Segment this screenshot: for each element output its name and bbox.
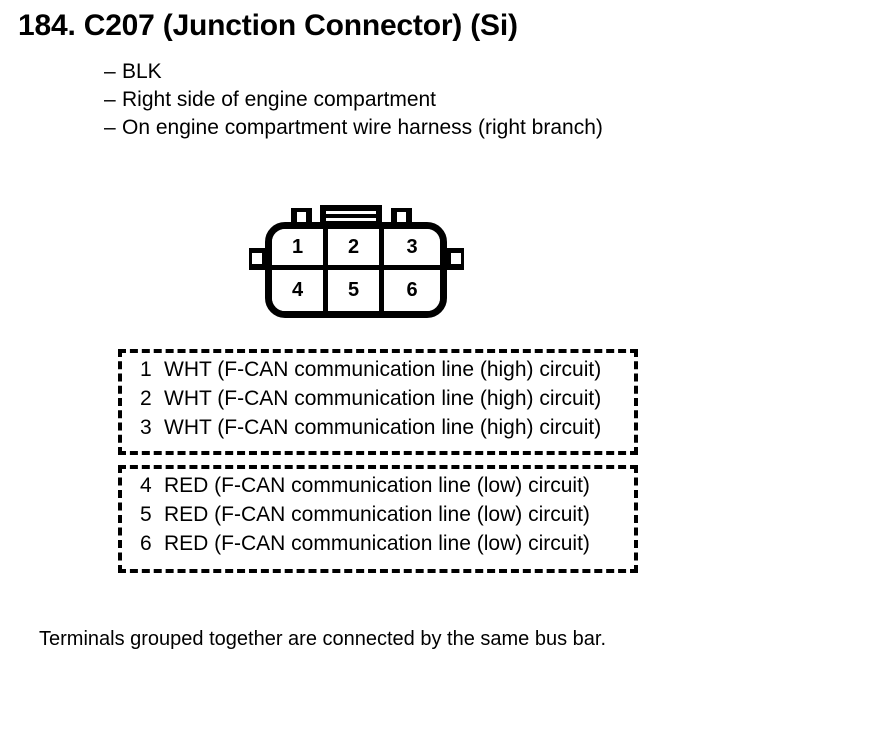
footer-note: Terminals grouped together are connected… [39,628,606,651]
circuit-row: 2 WHT (F-CAN communication line (high) c… [140,387,630,416]
connector-pin-cell: 2 [328,229,384,270]
connector-note: – Right side of engine compartment [104,88,804,116]
connector-pin-cell: 6 [384,270,440,311]
circuit-row-list: 1 WHT (F-CAN communication line (high) c… [140,358,630,445]
circuit-label: RED (F-CAN communication line (low) circ… [164,503,590,527]
connector-notes-list: – BLK – Right side of engine compartment… [104,60,804,144]
note-dash-icon: – [104,88,122,112]
connector-pin-cell: 5 [328,270,384,311]
circuit-pin-number: 5 [140,503,164,527]
connector-latch-slot [326,211,376,214]
connector-side-tab-right [444,248,464,270]
connector-pin-cell: 4 [272,270,328,311]
connector-note: – On engine compartment wire harness (ri… [104,116,804,144]
circuit-row: 6 RED (F-CAN communication line (low) ci… [140,532,630,561]
circuit-pin-number: 2 [140,387,164,411]
circuit-row: 3 WHT (F-CAN communication line (high) c… [140,416,630,445]
note-dash-icon: – [104,116,122,140]
connector-side-tab-left-hole [252,253,262,264]
page-title: 184. C207 (Junction Connector) (Si) [18,9,518,43]
connector-pin-cell: 3 [384,229,440,270]
connector-note: – BLK [104,60,804,88]
note-text: BLK [122,60,162,84]
circuit-label: RED (F-CAN communication line (low) circ… [164,474,590,498]
note-text: Right side of engine compartment [122,88,436,112]
note-dash-icon: – [104,60,122,84]
circuit-row: 1 WHT (F-CAN communication line (high) c… [140,358,630,387]
circuit-row-list: 4 RED (F-CAN communication line (low) ci… [140,474,630,561]
circuit-pin-number: 3 [140,416,164,440]
connector-body: 1 2 3 4 5 6 [265,222,447,318]
note-text: On engine compartment wire harness (righ… [122,116,603,140]
connector-side-tab-right-hole [451,253,461,264]
connector-pin-grid: 1 2 3 4 5 6 [272,229,440,311]
circuit-group-high: 1 WHT (F-CAN communication line (high) c… [118,349,638,455]
circuit-pin-number: 6 [140,532,164,556]
circuit-label: WHT (F-CAN communication line (high) cir… [164,416,601,440]
connector-latch-slot [326,218,376,221]
circuit-row: 5 RED (F-CAN communication line (low) ci… [140,503,630,532]
circuit-label: RED (F-CAN communication line (low) circ… [164,532,590,556]
circuit-pin-number: 4 [140,474,164,498]
circuit-group-low: 4 RED (F-CAN communication line (low) ci… [118,465,638,573]
circuit-row: 4 RED (F-CAN communication line (low) ci… [140,474,630,503]
circuit-label: WHT (F-CAN communication line (high) cir… [164,387,601,411]
connector-pin-cell: 1 [272,229,328,270]
connector-pinout-diagram: 1 2 3 4 5 6 [248,203,464,321]
circuit-label: WHT (F-CAN communication line (high) cir… [164,358,601,382]
circuit-pin-number: 1 [140,358,164,382]
